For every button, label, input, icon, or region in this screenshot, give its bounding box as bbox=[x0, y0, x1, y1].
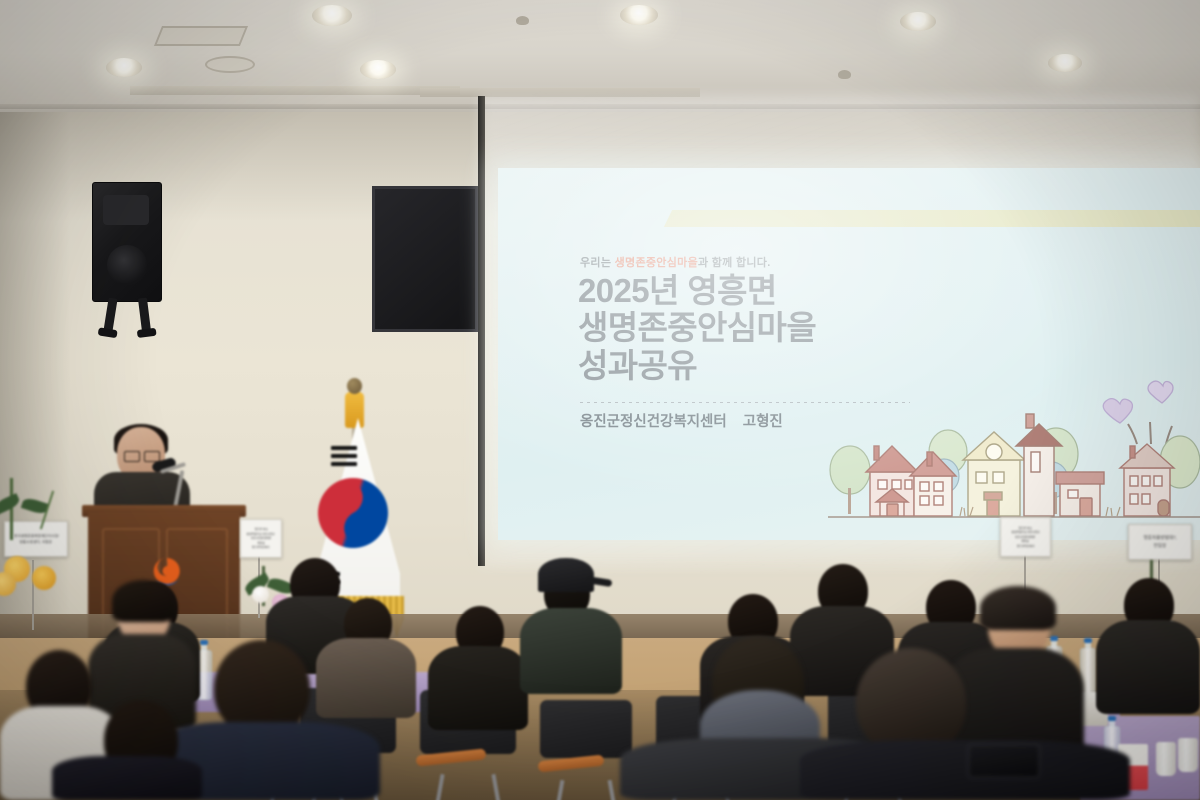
ceiling-light-5 bbox=[900, 12, 936, 31]
placard-left-front: 한국생명존중희망재단이사장/ 영흥소방센터, 국형장 bbox=[4, 521, 68, 557]
ceiling-light-4 bbox=[620, 5, 658, 25]
placard-center-stage: 영흥면 분소 생명존중안심 마을사업단 마을사업운영위원 위원장 영흥면행정복지 bbox=[240, 519, 282, 558]
village-illustration bbox=[828, 376, 1200, 526]
placard-center-line-5: 영흥면행정복지 bbox=[252, 545, 270, 549]
ceiling-light-1 bbox=[106, 58, 142, 77]
attendee-hair-m1 bbox=[112, 580, 174, 622]
ceiling-light-3 bbox=[360, 60, 396, 79]
slide-title: 2025년 영흥면 생명존중안심마을 성과공유 bbox=[578, 272, 998, 384]
ceiling-light-2 bbox=[312, 5, 352, 26]
presenter-organization: 옹진군정신건강복지센터 bbox=[580, 414, 727, 430]
attendee-body-b5 bbox=[520, 608, 622, 694]
tagline-prefix: 우리는 bbox=[580, 257, 615, 269]
sprinkler-head-2 bbox=[838, 70, 851, 79]
placard-left-line-1: 한국생명존중희망재단이사장/ bbox=[13, 533, 58, 538]
slide-accent-band bbox=[664, 210, 1200, 227]
ceiling-light-6 bbox=[1048, 54, 1082, 72]
paper-cup-stack-2 bbox=[1178, 738, 1198, 772]
slide-tagline: 우리는 생명존중안심마을과 함께 합니다. bbox=[580, 254, 771, 270]
placard-right: 영흥자율방범대7, 전임장 bbox=[1128, 524, 1192, 560]
projection-screen: 우리는 생명존중안심마을과 함께 합니다. 2025년 영흥면 생명존중안심마을… bbox=[498, 168, 1200, 540]
flag-tassel bbox=[345, 392, 364, 428]
chair-3 bbox=[540, 700, 632, 800]
flag-trigram-1 bbox=[331, 446, 357, 450]
placard-right-line-1: 영흥자율방범대7, bbox=[1143, 534, 1176, 541]
ceiling-air-duct bbox=[130, 86, 460, 95]
tagline-suffix: 과 함께 합니다. bbox=[698, 257, 771, 269]
placard-center-line-1: 영흥면 분소 bbox=[254, 527, 267, 531]
conference-photo: 우리는 생명존중안심마을과 함께 합니다. 2025년 영흥면 생명존중안심마을… bbox=[0, 0, 1200, 800]
attendee-body-b4 bbox=[428, 646, 528, 730]
glasses-icon bbox=[124, 451, 160, 460]
jacket-logo-patch bbox=[968, 744, 1040, 778]
presenter-name: 고형진 bbox=[743, 414, 783, 430]
placard-center-r-line-4: 위원장 bbox=[1022, 539, 1030, 543]
attendee-body-b9 bbox=[1096, 620, 1200, 714]
paper-cup-stack-1 bbox=[1156, 742, 1176, 776]
sprinkler-head-1 bbox=[516, 16, 529, 25]
placard-center-r-line-2: 생명존중안심 마을사업단 bbox=[1011, 530, 1040, 534]
slide-presenter: 옹진군정신건강복지센터고형진 bbox=[580, 410, 783, 431]
attendee-hair-m2 bbox=[980, 586, 1056, 630]
slide-title-line-1: 2025년 영흥면 bbox=[578, 272, 998, 309]
screen-frame-edge bbox=[478, 96, 485, 566]
wall-speaker-left bbox=[92, 182, 162, 302]
ceiling-round-vent bbox=[205, 56, 255, 73]
attendee-body-b3 bbox=[316, 638, 416, 718]
tagline-highlight: 생명존중안심마을 bbox=[615, 257, 698, 269]
placard-center-line-3: 마을사업운영위원 bbox=[251, 536, 271, 540]
placard-right-line-2: 전임장 bbox=[1154, 542, 1167, 549]
attendee-body-f3 bbox=[52, 756, 202, 800]
ceiling-vent bbox=[154, 26, 248, 46]
flag-trigram-3 bbox=[331, 462, 357, 466]
placard-left-line-2: 영흥소방센터, 국형장 bbox=[20, 539, 53, 544]
attendee-body-f5 bbox=[800, 740, 1130, 800]
flag-finial bbox=[347, 378, 362, 394]
cap-hat-icon-1 bbox=[538, 558, 594, 592]
flag-trigram-2 bbox=[331, 454, 357, 458]
placard-center-right: 영흥면 분소 생명존중안심 마을사업단 마을사업운영위원 위원장 영흥면행정복지 bbox=[1000, 517, 1051, 557]
wall-speaker-right bbox=[372, 186, 478, 332]
slide-title-line-2: 생명존중안심마을 bbox=[578, 309, 998, 346]
placard-center-r-line-5: 영흥면행정복지 bbox=[1017, 544, 1035, 548]
